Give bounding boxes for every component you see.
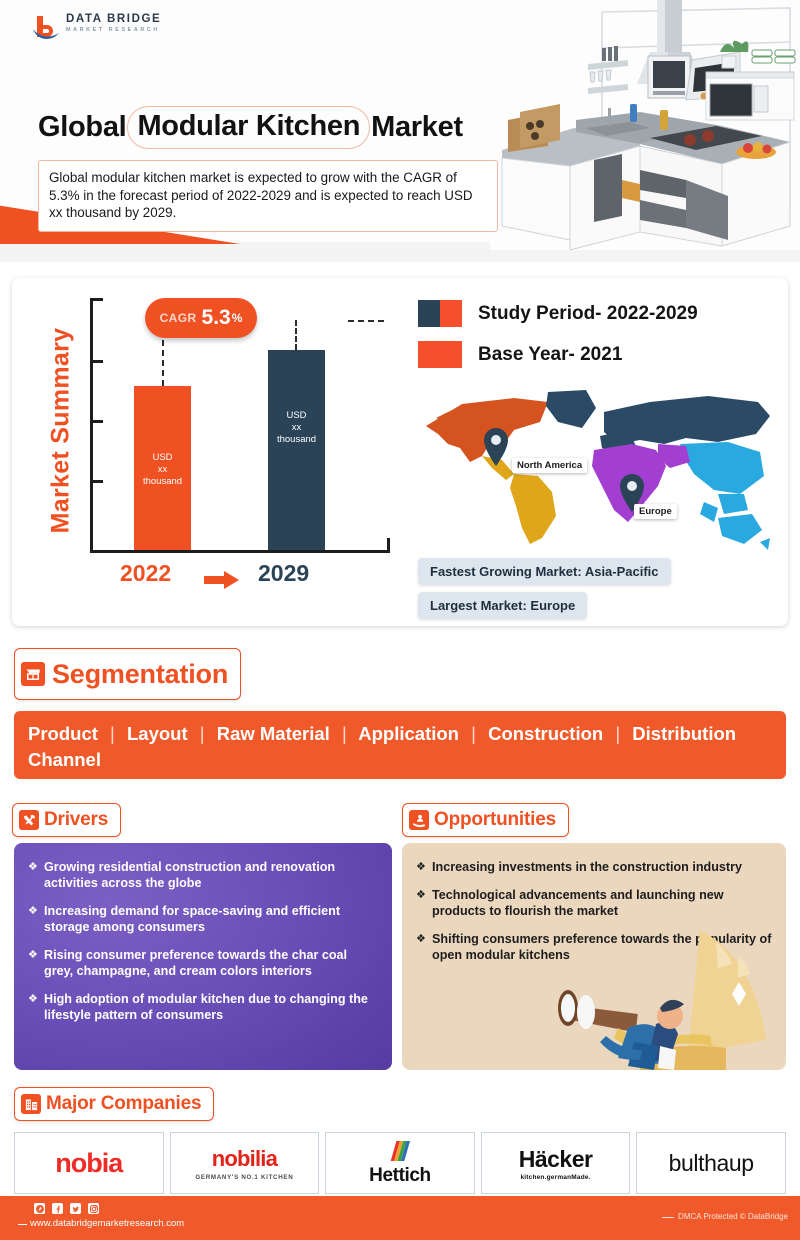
drivers-bullet-3: Rising consumer preference towards the c… — [44, 947, 378, 979]
social-links — [34, 1203, 99, 1214]
growth-arrow-icon — [202, 570, 242, 590]
legend-swatch-two-tone — [418, 300, 462, 327]
bullet-icon: ❖ — [416, 931, 432, 963]
chart-y-axis-cap — [90, 298, 103, 301]
title-highlight: Modular Kitchen — [127, 106, 370, 149]
map-pin-label-north-america: North America — [512, 458, 587, 473]
chart-x-axis-cap — [387, 538, 390, 553]
opportunities-bullet-2: Technological advancements and launching… — [432, 887, 772, 919]
world-map — [418, 382, 778, 554]
legend-swatch-orange — [418, 341, 462, 368]
chart-tick-1 — [90, 360, 103, 363]
market-summary-bar-chart: USDxxthousand USDxxthousand 2022 2029 — [90, 298, 390, 578]
chart-tick-3 — [90, 480, 103, 483]
segment-separator-4: | — [464, 723, 483, 744]
header-banner: DATA BRIDGE MARKET RESEARCH — [0, 0, 800, 262]
cagr-connector-right — [295, 320, 297, 350]
modular-kitchen-illustration — [490, 0, 800, 250]
drivers-list-item: ❖ Rising consumer preference towards the… — [28, 947, 378, 979]
company-logo-hettich[interactable]: Hettich — [325, 1132, 475, 1194]
logo-wordmark: DATA BRIDGE MARKET RESEARCH — [66, 13, 161, 35]
instagram-icon[interactable] — [88, 1203, 99, 1214]
opportunities-list-item: ❖ Technological advancements and launchi… — [416, 887, 772, 919]
company-name-hettich: Hettich — [369, 1165, 431, 1187]
title-part2: Market — [371, 111, 463, 144]
cagr-percent: % — [232, 311, 243, 325]
chart-y-axis — [90, 298, 93, 553]
drivers-heading-tag: Drivers — [12, 803, 121, 837]
bar-2022-value: USDxxthousand — [143, 452, 182, 488]
opportunities-bullet-1: Increasing investments in the constructi… — [432, 859, 742, 875]
bar-2022: USDxxthousand — [134, 386, 191, 550]
company-tagline-nobilia: GERMANY'S NO.1 KITCHEN — [195, 1174, 293, 1181]
map-pin-label-europe: Europe — [634, 504, 677, 519]
drivers-list-item: ❖ Increasing demand for space-saving and… — [28, 903, 378, 935]
x-label-2022: 2022 — [120, 560, 171, 587]
legend-label-study-period: Study Period- 2022-2029 — [478, 303, 698, 325]
building-icon — [21, 1094, 41, 1114]
bullet-icon: ❖ — [416, 887, 432, 919]
company-name-hacker: Häcker — [519, 1146, 593, 1173]
chart-legend: Study Period- 2022-2029 Base Year- 2021 — [418, 300, 698, 382]
bullet-icon: ❖ — [28, 991, 44, 1023]
company-tagline-hacker: kitchen.germanMade. — [520, 1174, 590, 1181]
cagr-connector-top — [348, 320, 384, 322]
chart-x-axis — [90, 550, 390, 553]
drivers-list-item: ❖ High adoption of modular kitchen due t… — [28, 991, 378, 1023]
segment-separator-3: | — [335, 723, 354, 744]
opportunities-list-item: ❖ Increasing investments in the construc… — [416, 859, 772, 875]
telescope-illustration — [510, 920, 780, 1070]
twitter-icon[interactable] — [70, 1203, 81, 1214]
largest-market-note: Largest Market: Europe — [418, 592, 587, 619]
bar-2029-value: USDxxthousand — [277, 410, 316, 446]
bullet-icon: ❖ — [416, 859, 432, 875]
hettich-mark-icon — [385, 1139, 415, 1165]
company-name-nobilia: nobilia — [212, 1146, 277, 1172]
x-label-2029: 2029 — [258, 560, 309, 587]
cagr-value: 5.3 — [202, 306, 231, 330]
segmentation-items-list: Product | Layout | Raw Material | Applic… — [28, 721, 772, 773]
drivers-list: ❖ Growing residential construction and r… — [14, 843, 392, 1045]
segment-separator-2: | — [193, 723, 212, 744]
company-logo-hacker[interactable]: Häcker kitchen.germanMade. — [481, 1132, 631, 1194]
market-summary-axis-label-text: Market Summary — [47, 327, 76, 533]
segment-separator-1: | — [103, 723, 122, 744]
segment-raw-material: Raw Material — [217, 723, 330, 744]
company-logo-bulthaup[interactable]: bulthaup — [636, 1132, 786, 1194]
legend-item-study-period: Study Period- 2022-2029 — [418, 300, 698, 327]
segment-separator-5: | — [608, 723, 627, 744]
drivers-list-item: ❖ Growing residential construction and r… — [28, 859, 378, 891]
skype-icon[interactable] — [34, 1203, 45, 1214]
brand-logo[interactable]: DATA BRIDGE MARKET RESEARCH — [30, 10, 190, 46]
bullet-icon: ❖ — [28, 859, 44, 891]
copyright-text: DMCA Protected © DataBridge — [678, 1212, 788, 1221]
drivers-heading-text: Drivers — [44, 809, 108, 831]
fastest-growing-market-note: Fastest Growing Market: Asia-Pacific — [418, 558, 671, 585]
segmentation-heading-tag: Segmentation — [14, 648, 241, 700]
cagr-badge: CAGR 5.3 % — [145, 298, 257, 338]
company-logo-nobia[interactable]: nobia — [14, 1132, 164, 1194]
segment-application: Application — [358, 723, 459, 744]
description-box: Global modular kitchen market is expecte… — [38, 160, 498, 232]
cagr-label: CAGR — [160, 311, 197, 325]
segment-product: Product — [28, 723, 98, 744]
opportunities-heading-tag: Opportunities — [402, 803, 569, 837]
page-title: Global Modular Kitchen Market — [38, 105, 508, 149]
data-bridge-logo-icon — [30, 12, 62, 44]
segmentation-items-bar: Product | Layout | Raw Material | Applic… — [14, 711, 786, 779]
opportunities-heading-text: Opportunities — [434, 809, 556, 831]
drivers-bullet-1: Growing residential construction and ren… — [44, 859, 378, 891]
bar-2029: USDxxthousand — [268, 350, 325, 550]
legend-label-base-year: Base Year- 2021 — [478, 344, 622, 366]
facebook-icon[interactable] — [52, 1203, 63, 1214]
major-companies-heading-tag: Major Companies — [14, 1087, 214, 1121]
cagr-connector-left — [162, 340, 164, 386]
chart-tick-2 — [90, 420, 103, 423]
market-summary-axis-label: Market Summary — [40, 300, 82, 560]
tools-icon — [19, 810, 39, 830]
company-logo-nobilia[interactable]: nobilia GERMANY'S NO.1 KITCHEN — [170, 1132, 320, 1194]
company-logo-row: nobia nobilia GERMANY'S NO.1 KITCHEN Het… — [14, 1132, 786, 1194]
legend-item-base-year: Base Year- 2021 — [418, 341, 698, 368]
company-name-nobia: nobia — [55, 1148, 122, 1179]
logo-title: DATA BRIDGE — [66, 13, 161, 26]
hand-person-icon — [409, 810, 429, 830]
website-url[interactable]: www.databridgemarketresearch.com — [30, 1218, 184, 1229]
major-companies-heading-text: Major Companies — [46, 1093, 201, 1115]
segment-construction: Construction — [488, 723, 603, 744]
title-part1: Global — [38, 111, 126, 144]
drivers-panel: ❖ Growing residential construction and r… — [14, 843, 392, 1070]
drivers-bullet-4: High adoption of modular kitchen due to … — [44, 991, 378, 1023]
drivers-bullet-2: Increasing demand for space-saving and e… — [44, 903, 378, 935]
description-text: Global modular kitchen market is expecte… — [49, 169, 487, 222]
bullet-icon: ❖ — [28, 903, 44, 935]
storefront-icon — [21, 662, 45, 686]
segment-layout: Layout — [127, 723, 188, 744]
bullet-icon: ❖ — [28, 947, 44, 979]
opportunities-panel: ❖ Increasing investments in the construc… — [402, 843, 786, 1070]
segmentation-heading-text: Segmentation — [52, 659, 228, 689]
company-name-bulthaup: bulthaup — [669, 1150, 754, 1177]
logo-subtitle: MARKET RESEARCH — [66, 26, 161, 35]
